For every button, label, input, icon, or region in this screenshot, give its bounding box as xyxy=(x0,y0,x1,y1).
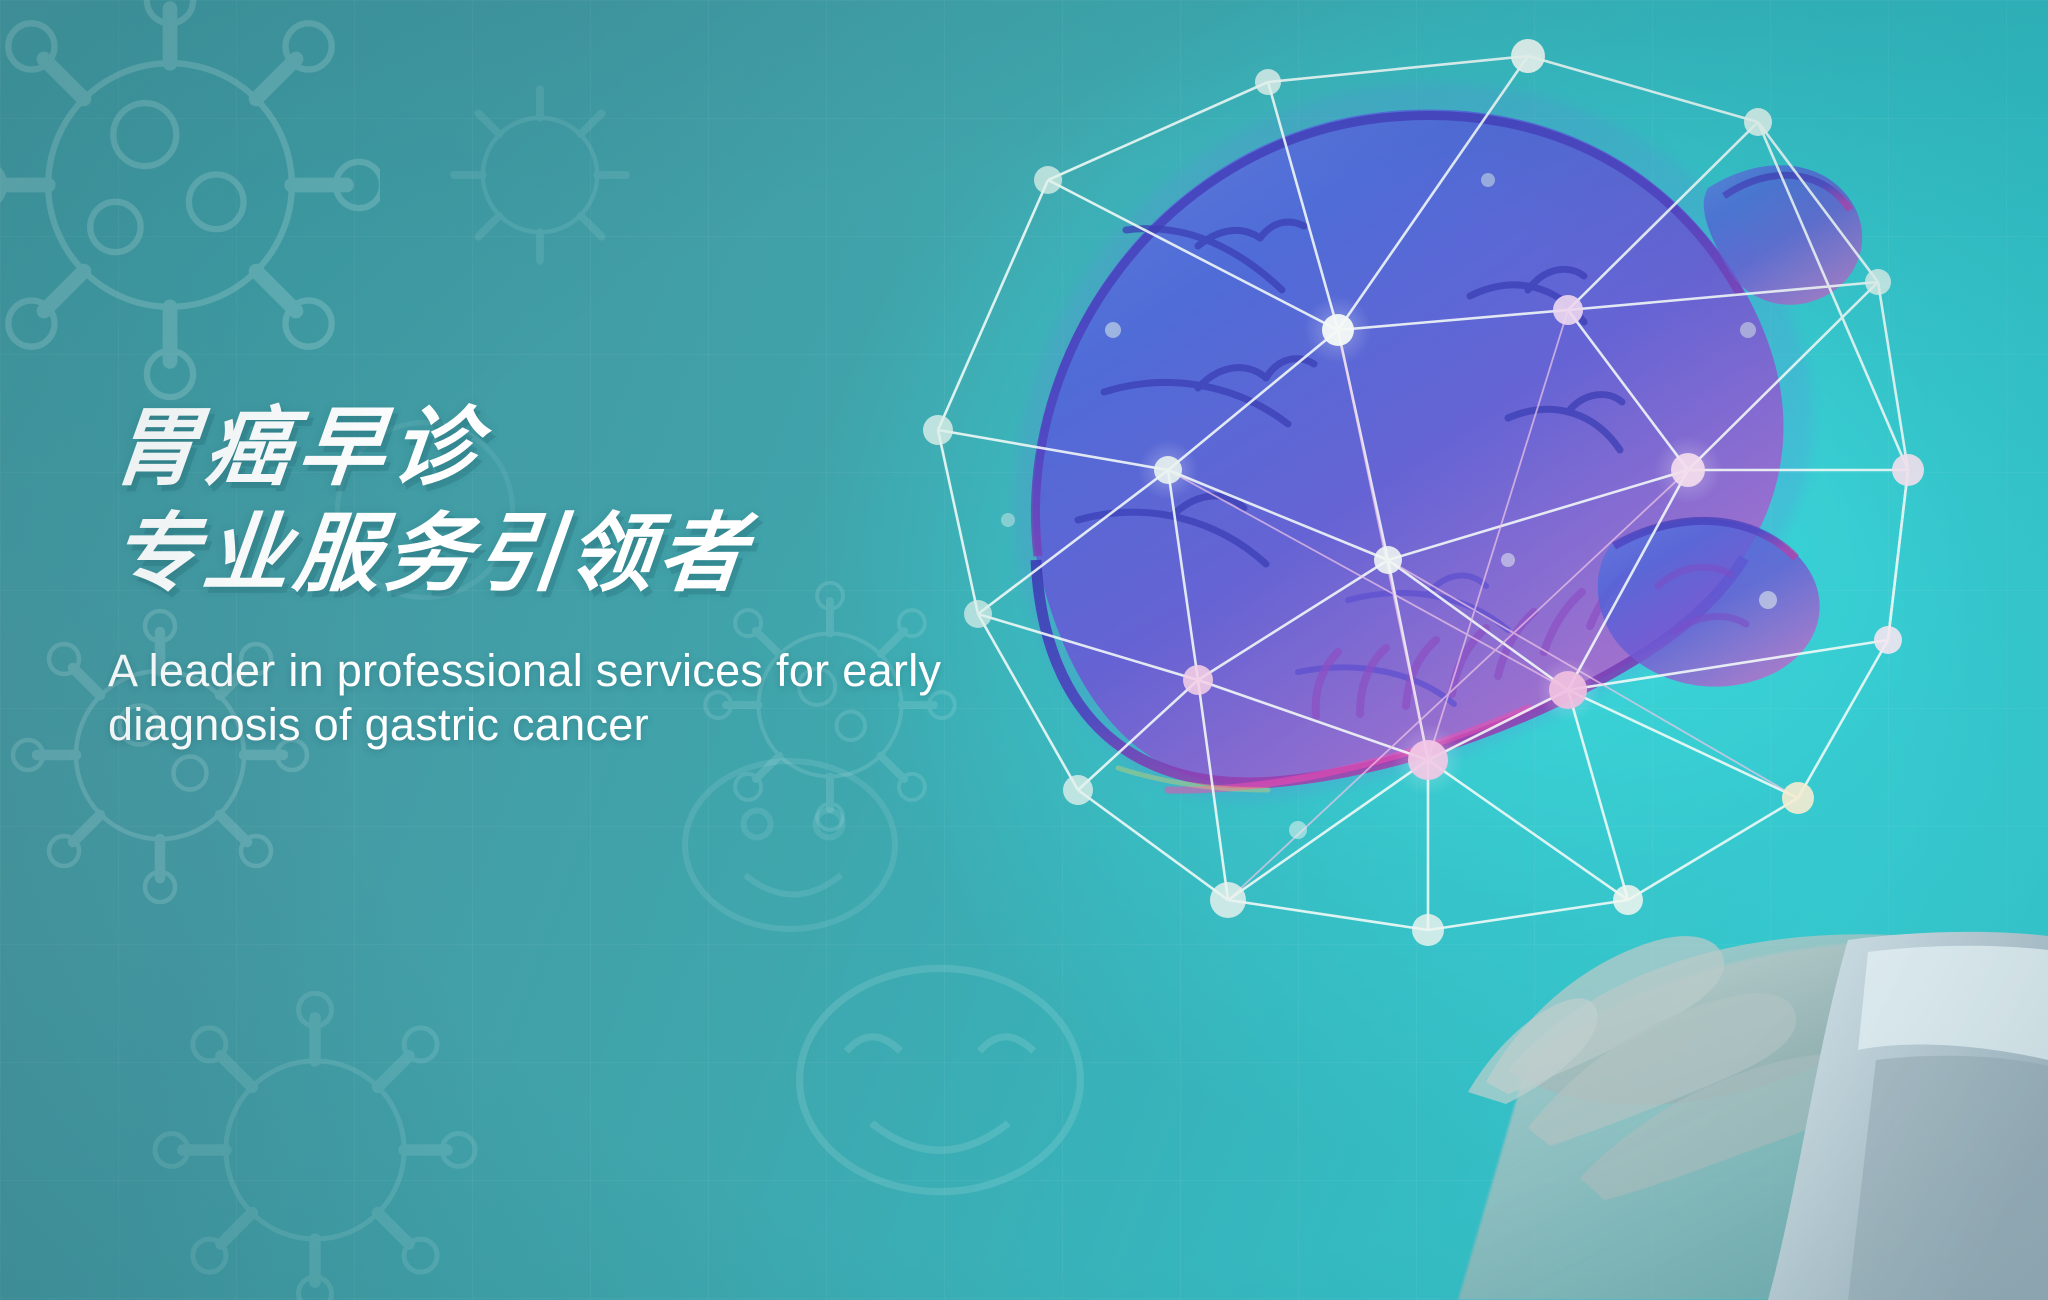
headline-block: 胃癌早诊 专业服务引领者 A leader in professional se… xyxy=(108,405,1108,751)
subtitle-english-line-1: A leader in professional services for ea… xyxy=(108,644,1108,697)
stomach-organ xyxy=(1015,84,1863,802)
subtitle-english-line-2: diagnosis of gastric cancer xyxy=(108,698,1108,751)
subtitle-english: A leader in professional services for ea… xyxy=(108,644,1108,750)
headline-chinese-line-1: 胃癌早诊 xyxy=(108,405,1117,493)
doctor-hand xyxy=(1458,932,2048,1300)
banner-root: 胃癌早诊 专业服务引领者 A leader in professional se… xyxy=(0,0,2048,1300)
headline-chinese-line-2: 专业服务引领者 xyxy=(108,511,1117,599)
